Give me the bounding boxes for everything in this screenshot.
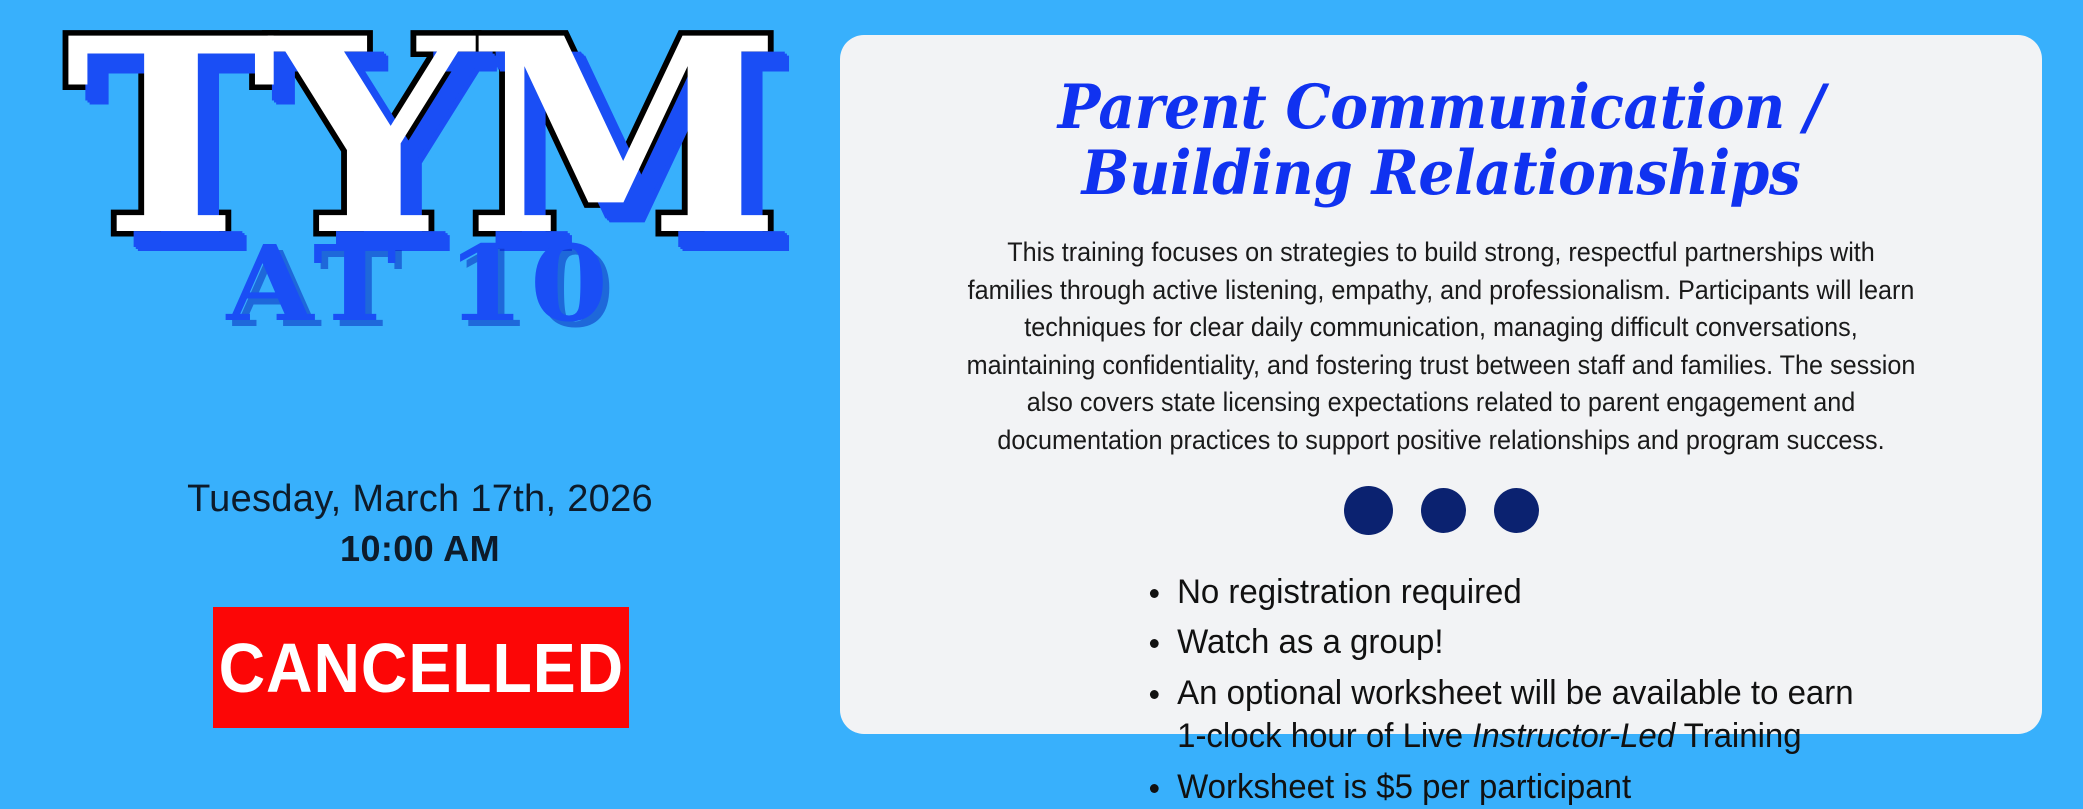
training-info-card: Parent Communication / Building Relation… [840,35,2042,734]
page-title-line-2: Building Relationships [1082,138,1801,209]
divider-dot-icon [1421,488,1466,533]
list-item: An optional worksheet will be available … [1148,672,2015,759]
status-badge-label: CANCELLED [218,633,623,703]
event-date: Tuesday, March 17th, 2026 [0,478,840,521]
event-time: 10:00 AM [0,528,840,570]
details-list: No registration required Watch as a grou… [840,571,2042,809]
list-item-label: Worksheet is $5 per participant [1177,768,1631,806]
list-item-subline: 1-clock hour of Live Instructor-Led Trai… [1177,715,2015,759]
logo-sub-text: AT 10 [0,232,874,336]
left-panel: TYM AT 10 Tuesday, March 17th, 2026 10:0… [0,0,840,769]
logo-main-text: TYM [0,28,865,248]
status-badge: CANCELLED [213,607,629,728]
list-item-label: An optional worksheet will be available … [1177,674,1853,712]
training-description: This training focuses on strategies to b… [966,234,1916,460]
divider-dot-icon [1494,488,1539,533]
divider-dots [840,486,2042,535]
page-title-line-1: Parent Communication / [1058,72,1825,143]
list-item-subline-suffix: Training [1675,717,1801,755]
list-item: Worksheet is $5 per participant [1148,766,2015,809]
list-item-subline-prefix: 1-clock hour of Live [1177,717,1472,755]
list-item: Watch as a group! [1148,621,2015,665]
list-item-label: Watch as a group! [1177,623,1443,661]
flyer-canvas: TYM AT 10 Tuesday, March 17th, 2026 10:0… [0,0,2083,769]
divider-dot-icon [1344,486,1393,535]
list-item-subline-emphasis: Instructor-Led [1472,717,1675,755]
tym-logo: TYM AT 10 [0,28,840,336]
list-item-label: No registration required [1177,573,1522,611]
list-item: No registration required [1148,571,2015,615]
page-title: Parent Communication / Building Relation… [882,35,2000,208]
